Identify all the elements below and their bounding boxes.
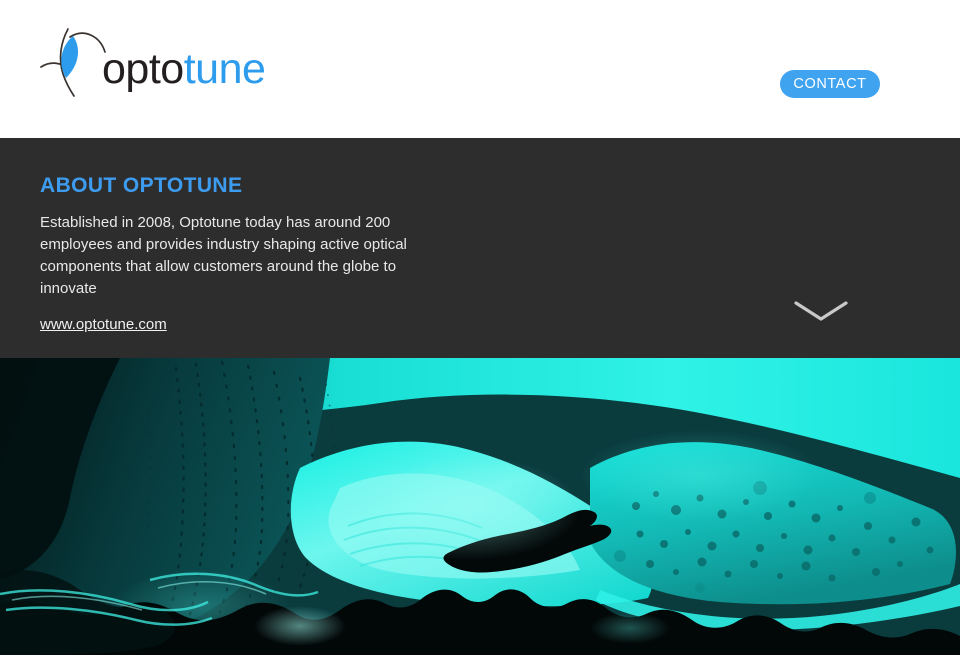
abstract-cyan-microscopy-graphic [0,358,960,655]
logo-word-tune: tune [184,45,266,93]
about-heading: ABOUT OPTOTUNE [40,174,460,198]
logo-word-opto: opto [102,45,184,93]
about-body-text: Established in 2008, Optotune today has … [40,212,420,300]
optotune-lens-logo-icon [40,24,106,100]
about-section: ABOUT OPTOTUNE Established in 2008, Opto… [0,138,960,358]
page-root: optotune CONTACT ABOUT OPTOTUNE Establis… [0,0,960,655]
hero-image [0,358,960,655]
about-content: ABOUT OPTOTUNE Established in 2008, Opto… [40,174,460,334]
logo-wordmark: optotune [102,48,265,91]
site-logo[interactable]: optotune [40,22,271,102]
chevron-down-icon[interactable] [792,298,850,324]
contact-button[interactable]: CONTACT [780,70,880,98]
website-link[interactable]: www.optotune.com [40,316,167,333]
site-header: optotune CONTACT [0,0,960,138]
